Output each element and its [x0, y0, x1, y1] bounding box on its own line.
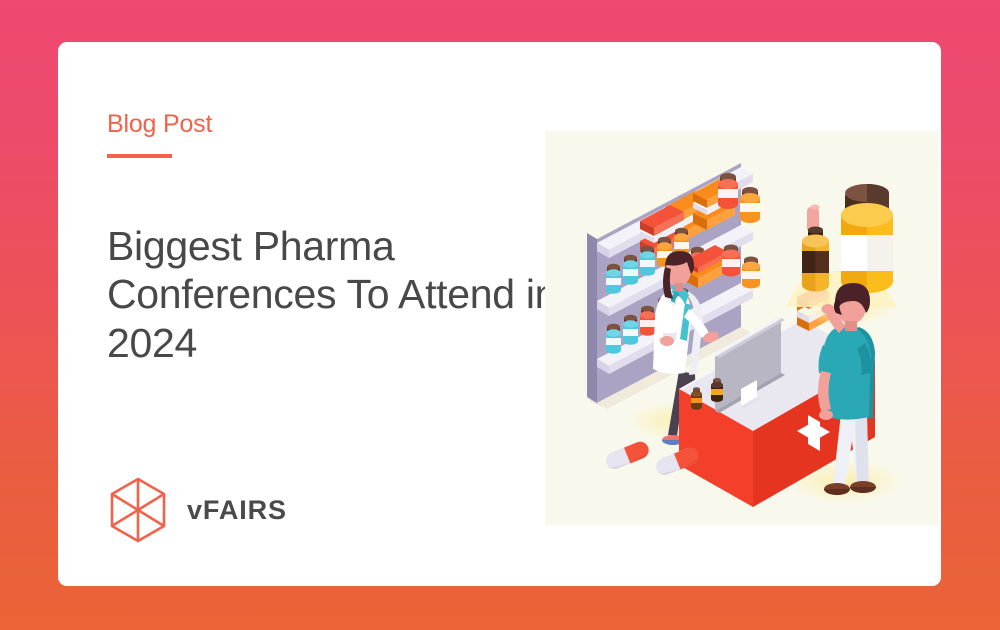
page-root: Blog Post Biggest Pharma Conferences To …: [0, 0, 1000, 630]
large-pill-bottle: [841, 184, 893, 293]
hexagon-cube-icon: [107, 476, 169, 544]
text-column: Blog Post Biggest Pharma Conferences To …: [107, 112, 577, 367]
page-title: Biggest Pharma Conferences To Attend in …: [107, 222, 577, 367]
kicker-underline-rule: [107, 154, 172, 158]
blog-post-card: Blog Post Biggest Pharma Conferences To …: [58, 42, 941, 586]
vfairs-logo: vFAIRS: [107, 476, 287, 544]
kicker-label: Blog Post: [107, 112, 577, 137]
logo-wordmark: vFAIRS: [187, 495, 287, 526]
isometric-pharmacy-illustration: [545, 131, 938, 525]
